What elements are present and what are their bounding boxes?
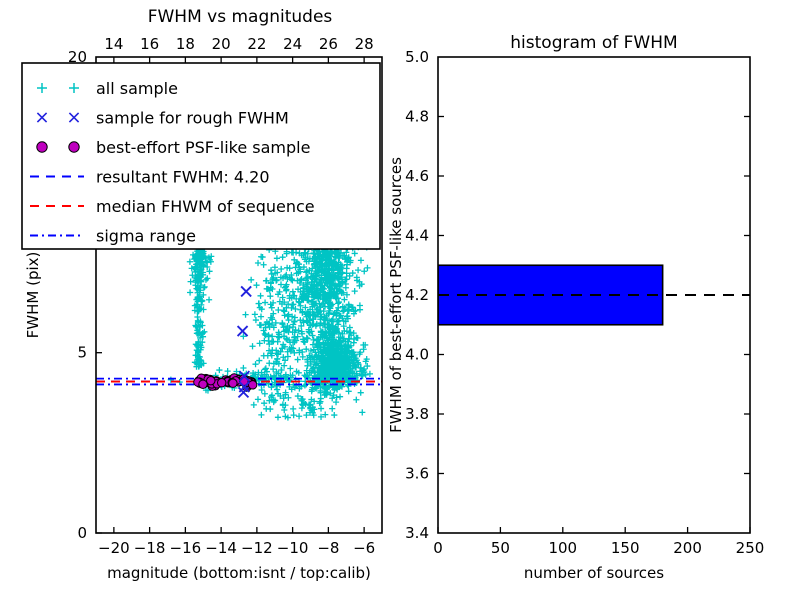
x-tick-label: −6 (353, 539, 375, 557)
legend-item-label: all sample (96, 79, 178, 98)
x-tick-label: 50 (491, 539, 510, 557)
right-panel: histogram of FWHM 050100150200250 3.43.6… (387, 33, 764, 582)
top-x-tick-label: 20 (212, 35, 231, 53)
y-tick-label: 5 (77, 344, 87, 362)
right-panel-x-axis-label: number of sources (524, 564, 664, 582)
top-x-tick-label: 14 (104, 35, 123, 53)
y-tick-label: 5.0 (405, 48, 429, 66)
legend: all samplesample for rough FWHMbest-effo… (22, 63, 380, 249)
right-panel-y-axis-label: FWHM of best-effort PSF-like sources (387, 157, 405, 433)
legend-item-label: sample for rough FWHM (96, 109, 289, 128)
legend-item-label: sigma range (96, 227, 196, 246)
y-tick-label: 3.8 (405, 405, 429, 423)
left-panel-top-ticks (114, 57, 364, 63)
top-x-tick-label: 16 (140, 35, 159, 53)
x-tick-label: 250 (736, 539, 765, 557)
x-tick-label: −18 (134, 539, 166, 557)
y-tick-label: 4.2 (405, 286, 429, 304)
top-x-tick-label: 18 (176, 35, 195, 53)
left-panel-x-tick-labels: −20−18−16−14−12−10−8−6 (98, 539, 375, 557)
top-x-tick-label: 22 (247, 35, 266, 53)
right-panel-y-tick-labels: 3.43.63.84.04.24.44.64.85.0 (405, 48, 429, 542)
figure-canvas: FWHM vs magnitudes 1416182022242628 −20−… (0, 0, 800, 600)
y-tick-label: 4.4 (405, 227, 429, 245)
x-tick-label: 100 (548, 539, 577, 557)
left-panel-y-axis-label: FWHM (pix) (24, 252, 42, 339)
right-panel-x-ticks (438, 527, 750, 533)
psf-sample-point (199, 380, 207, 388)
y-tick-label: 3.6 (405, 465, 429, 483)
y-tick-label: 4.6 (405, 167, 429, 185)
right-panel-x-tick-labels: 050100150200250 (433, 539, 764, 557)
left-panel-x-ticks (114, 527, 364, 533)
right-panel-title: histogram of FWHM (510, 33, 677, 53)
legend-item-label: best-effort PSF-like sample (96, 138, 310, 157)
psf-sample-point (207, 376, 215, 384)
left-panel-top-tick-labels: 1416182022242628 (104, 35, 373, 53)
x-tick-label: −20 (98, 539, 130, 557)
y-tick-label: 0 (77, 524, 87, 542)
legend-marker-dot-icon (37, 142, 47, 152)
x-tick-label: −12 (241, 539, 273, 557)
x-tick-label: −14 (205, 539, 237, 557)
left-panel-x-axis-label: magnitude (bottom:isnt / top:calib) (107, 564, 371, 582)
psf-sample-point (248, 381, 256, 389)
x-tick-label: −16 (170, 539, 202, 557)
y-tick-label: 3.4 (405, 524, 429, 542)
left-panel-title: FWHM vs magnitudes (148, 7, 333, 27)
psf-sample-point (218, 379, 226, 387)
x-tick-label: 150 (611, 539, 640, 557)
x-tick-label: −8 (317, 539, 339, 557)
top-x-tick-label: 24 (283, 35, 302, 53)
y-tick-label: 4.8 (405, 108, 429, 126)
top-x-tick-label: 26 (319, 35, 338, 53)
x-tick-label: 200 (673, 539, 702, 557)
legend-item-label: resultant FWHM: 4.20 (96, 168, 270, 187)
top-x-tick-label: 28 (355, 35, 374, 53)
x-tick-label: 0 (433, 539, 443, 557)
y-tick-label: 4.0 (405, 346, 429, 364)
legend-item-label: median FHWM of sequence (96, 197, 315, 216)
legend-marker-dot-icon (69, 142, 79, 152)
x-tick-label: −10 (277, 539, 309, 557)
psf-sample-point (229, 379, 237, 387)
